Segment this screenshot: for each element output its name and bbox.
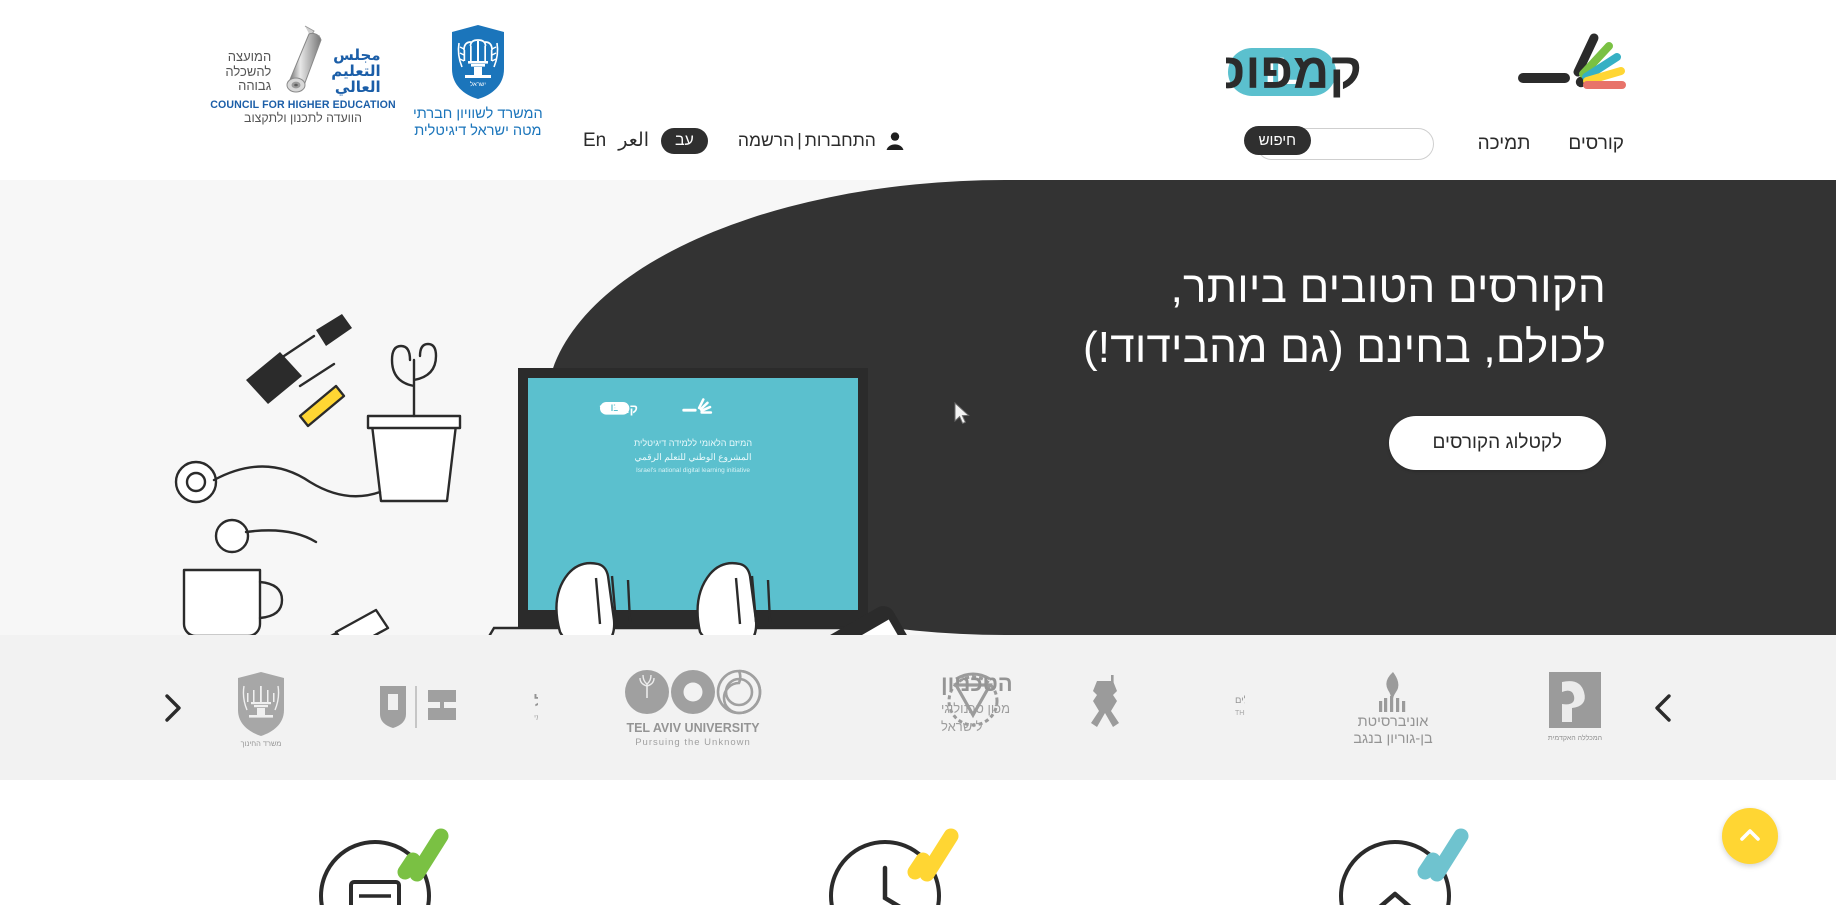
ministry-caption-line1: המשרד לשוויון חברתי [413, 106, 543, 123]
svg-text:אוניברסיטת: אוניברסיטת [1357, 714, 1428, 730]
feature-home[interactable] [1333, 822, 1523, 905]
partner-tel-aviv-university[interactable]: TEL AVIV UNIVERSITY Pursuing the Unknown [611, 666, 771, 750]
partner-cyber-israel[interactable]: סייבר ישראל מערך הסייבר הלאומי [368, 666, 538, 750]
partner-technion[interactable]: הטכניון מכון טכנולוגי לישראל [843, 666, 1013, 750]
che-hebrew-line1: המועצה [225, 50, 271, 65]
auth-separator: | [794, 130, 805, 150]
language-arabic[interactable]: العر [618, 129, 649, 152]
site-header: ישראל המשרד לשוויון חברתי מטה ישראל דיגי… [0, 0, 1836, 180]
desk-illustration: IL קמפוס המיזם הלאומי ללמידה דיגיטלית ال… [0, 180, 1010, 635]
svg-text:משרד החינוך: משרד החינוך [241, 739, 282, 748]
search-box: חיפוש [1256, 128, 1434, 160]
che-hebrew-text: המועצה להשכלה גבוהה [225, 50, 271, 98]
hero-headline-line2: לכולם, בחינם (גם מהבידוד!) [906, 318, 1606, 378]
che-hebrew-line3: גבוהה [225, 79, 271, 94]
svg-text:מכון טכנולוגי: מכון טכנולוגי [941, 701, 1010, 716]
ministry-caption-line2: מטה ישראל דיגיטלית [413, 123, 543, 140]
svg-text:ישראל: ישראל [470, 80, 486, 88]
features-section [0, 780, 1836, 905]
svg-text:המיזם הלאומי ללמידה דיגיטלית: המיזם הלאומי ללמידה דיגיטלית [634, 438, 752, 448]
svg-text:קמפוס: קמפוס [1226, 43, 1362, 99]
hero-banner: IL קמפוס המיזם הלאומי ללמידה דיגיטלית ال… [0, 180, 1836, 635]
search-button[interactable]: חיפוש [1244, 126, 1311, 155]
svg-text:TEL AVIV UNIVERSITY: TEL AVIV UNIVERSITY [626, 721, 760, 735]
campus-il-logo[interactable]: IL קמפוס [1226, 30, 1626, 104]
israel-state-emblem-icon: ישראל [446, 22, 510, 102]
svg-text:הטכניון: הטכניון [941, 671, 1013, 696]
svg-text:THE HEBREW UNIVERSITY: THE HEBREW UNIVERSITY [1235, 710, 1245, 717]
svg-text:סייבר ישראל: סייבר ישראל [534, 694, 538, 710]
nav-courses[interactable]: קורסים [1568, 133, 1624, 155]
ministry-social-equality-logo[interactable]: ישראל המשרד לשוויון חברתי מטה ישראל דיגי… [413, 22, 543, 140]
course-catalog-button[interactable]: לקטלוג הקורסים [1389, 416, 1606, 470]
nav-support[interactable]: תמיכה [1478, 133, 1531, 155]
che-hebrew-subtitle: הוועדה לתכנון ולתקצוב [244, 111, 362, 125]
che-arabic-line1: مجلس [331, 48, 380, 64]
register-link[interactable]: הרשמה [738, 130, 794, 150]
svg-text:המכללה האקדמית: המכללה האקדמית [1548, 734, 1602, 742]
partner-ministry-of-education[interactable]: משרד החינוך [226, 666, 296, 750]
carousel-prev-button[interactable] [1646, 691, 1680, 725]
language-english[interactable]: En [583, 130, 606, 152]
partner-ben-gurion-university[interactable]: אוניברסיטת בן-גוריון בנגב [1318, 666, 1468, 750]
auth-links: התחברות|הרשמה [738, 130, 876, 151]
language-switcher: En العر עב [583, 128, 708, 154]
diploma-scroll-icon [275, 24, 327, 98]
svg-text:Israel's national digital lear: Israel's national digital learning initi… [636, 467, 750, 474]
svg-text:Pursuing the Unknown: Pursuing the Unknown [635, 737, 751, 748]
che-arabic-text: مجلس التعليم العالي [331, 48, 380, 98]
svg-text:المشروع الوطني للتعلم الرقمي: المشروع الوطني للتعلم الرقمي [635, 452, 752, 463]
partners-carousel: המכללה האקדמית אוניברסיטת בן-גוריון בנגב [0, 635, 1836, 780]
hero-headline-line1: הקורסים הטובים ביותר, [906, 258, 1606, 318]
scroll-to-top-button[interactable] [1722, 808, 1778, 864]
svg-text:מערך הסייבר הלאומי: מערך הסייבר הלאומי [534, 713, 538, 722]
partner-logo-track: המכללה האקדמית אוניברסיטת בן-גוריון בנגב [190, 666, 1646, 750]
feature-certificate[interactable] [313, 822, 503, 905]
svg-text:העברית בירושלים: העברית בירושלים [1235, 694, 1245, 706]
che-arabic-line2: التعليم [331, 64, 380, 80]
government-logos: ישראל המשרד לשוויון חברתי מטה ישראל דיגי… [215, 22, 543, 140]
partner-hamichlala-academit[interactable]: המכללה האקדמית [1540, 666, 1610, 750]
page-root: ישראל המשרד לשוויון חברתי מטה ישראל דיגי… [0, 0, 1836, 905]
partner-hebrew-university[interactable]: העברית בירושלים THE HEBREW UNIVERSITY [1085, 666, 1245, 750]
feature-clock[interactable] [823, 822, 1013, 905]
carousel-next-button[interactable] [156, 691, 190, 725]
user-account-icon[interactable] [884, 130, 906, 152]
che-hebrew-line2: להשכלה [225, 65, 271, 80]
svg-text:קמפוס: קמפוס [600, 402, 638, 416]
utility-nav: התחברות|הרשמה En العر עב [583, 128, 906, 154]
hero-copy: הקורסים הטובים ביותר, לכולם, בחינם (גם מ… [906, 258, 1606, 470]
svg-text:לישראל: לישראל [941, 719, 983, 734]
ministry-caption: המשרד לשוויון חברתי מטה ישראל דיגיטלית [413, 106, 543, 140]
svg-text:בן-גוריון בנגב: בן-גוריון בנגב [1353, 731, 1433, 747]
language-hebrew-active[interactable]: עב [661, 128, 708, 154]
mouse-cursor [954, 402, 972, 431]
council-higher-education-logo[interactable]: مجلس التعليم العالي [215, 22, 391, 125]
main-nav: קורסים תמיכה חיפוש [1256, 128, 1624, 160]
che-arabic-line3: العالي [331, 80, 380, 96]
login-link[interactable]: התחברות [805, 130, 876, 150]
che-english-text: COUNCIL FOR HIGHER EDUCATION [210, 99, 395, 111]
